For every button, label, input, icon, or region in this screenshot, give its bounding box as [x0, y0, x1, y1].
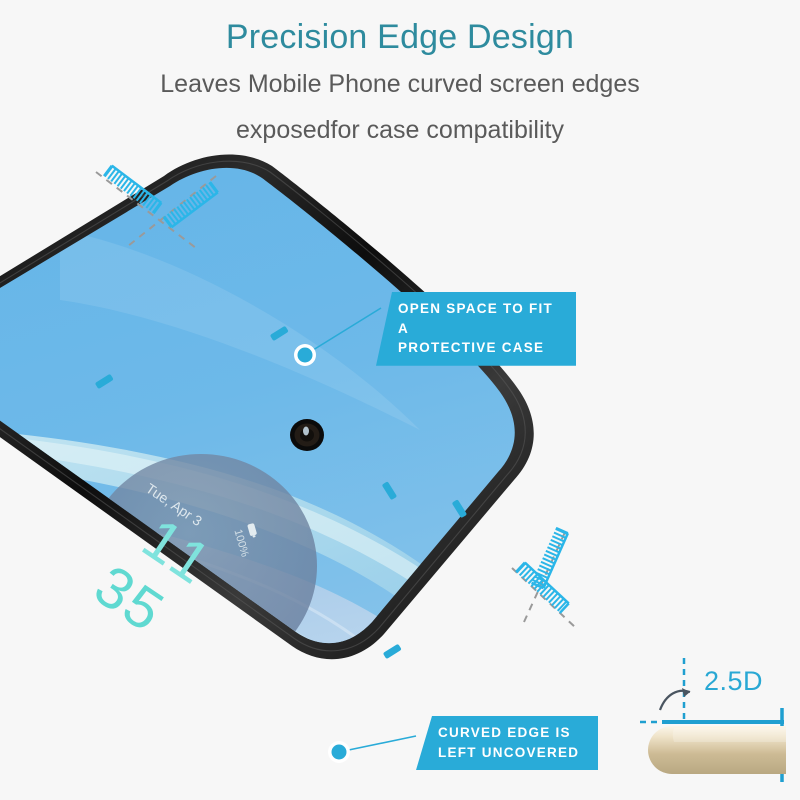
callout-curved-edge: CURVED EDGE IS LEFT UNCOVERED: [416, 716, 598, 770]
subtitle-line-2: exposedfor case compatibility: [0, 102, 800, 148]
weather-icon: [100, 620, 125, 636]
edge-profile-label: 2.5D: [704, 666, 763, 697]
phone-device: [0, 120, 640, 763]
callout-open-space: OPEN SPACE TO FIT A PROTECTIVE CASE: [376, 292, 576, 366]
marker-dot-curved-edge: [328, 736, 416, 763]
page-title: Precision Edge Design: [0, 0, 800, 56]
product-feature-image: Precision Edge Design Leaves Mobile Phon…: [0, 0, 800, 800]
punch-hole-camera: [290, 419, 324, 451]
subtitle-line-1: Leaves Mobile Phone curved screen edges: [0, 56, 800, 102]
header-block: Precision Edge Design Leaves Mobile Phon…: [0, 0, 800, 148]
